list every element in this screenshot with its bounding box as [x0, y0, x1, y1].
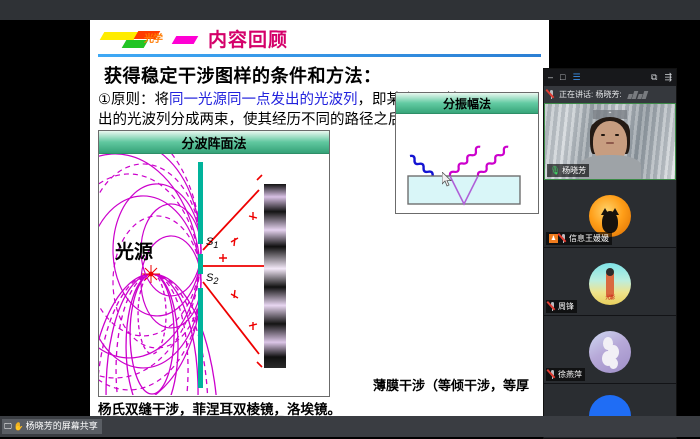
thin-film-slab	[408, 176, 520, 204]
anime-figure-avatar: 光影	[589, 263, 631, 305]
window-controls[interactable]: – □ ☰	[548, 73, 581, 82]
reflected-ray-2	[477, 145, 510, 177]
slide-header-rule	[98, 54, 541, 57]
fringe-screen	[264, 184, 286, 368]
slide-header: 光学 内容回顾	[90, 20, 549, 58]
participant-tile-avatar[interactable]: ♟ 信息王媛媛	[544, 180, 676, 248]
body-text-pre: ①原则：将	[98, 92, 169, 108]
purple-flower-avatar	[589, 331, 631, 373]
slit-label-s1: S1	[206, 236, 218, 250]
participant-tile-video[interactable]: ⌃ 🎙 杨晓芳	[544, 103, 676, 180]
mic-muted-icon	[549, 302, 556, 312]
audio-wave-icon	[628, 91, 647, 99]
participant-nametag: 🎙 杨晓芳	[547, 164, 589, 177]
participant-tile-avatar[interactable]: 徐燕萍	[544, 316, 676, 384]
taskbar-button-label: 杨晓芳的屏幕共享	[26, 419, 98, 434]
participant-name: 周锋	[558, 301, 574, 312]
figure-right-caption: 分振幅法	[396, 93, 538, 114]
hand-icon: ✋	[14, 419, 24, 434]
active-speaker-label: 正在讲话: 杨晓芳:	[559, 89, 622, 100]
video-panel-titlebar[interactable]: – □ ☰ ⧉ ⇶	[544, 69, 676, 86]
popout-icon[interactable]: ⧉	[651, 73, 657, 82]
optics-logo: 光学	[100, 28, 196, 48]
taskbar-share-button[interactable]: 🖵 ✋ 杨晓芳的屏幕共享	[2, 419, 102, 434]
host-badge-icon: ♟	[549, 234, 558, 243]
mouse-cursor	[442, 172, 453, 187]
participant-nametag: 周锋	[546, 300, 577, 313]
participant-tile-avatar[interactable]: 光影 周锋	[544, 248, 676, 316]
participant-nametag: 徐燕萍	[546, 368, 585, 381]
figure-wavefront-division: 分波阵面法	[98, 130, 330, 397]
minimize-icon[interactable]: –	[548, 73, 553, 82]
thin-film-note: 薄膜干涉（等倾干涉，等厚	[373, 375, 529, 394]
reflected-ray-1	[449, 145, 482, 177]
taskbar[interactable]: 🖵 ✋ 杨晓芳的屏幕共享	[0, 416, 700, 437]
maximize-icon[interactable]: □	[560, 73, 565, 82]
desktop-background: 光学 内容回顾 获得稳定干涉图样的条件和方法： ①原则：将同一光源同一点发出的光…	[0, 0, 700, 437]
body-text-highlight: 同一光源同一点发出的光波列	[169, 92, 358, 108]
participant-name: 信息王媛媛	[569, 233, 609, 244]
light-source-label: 光源	[115, 242, 153, 264]
slit-1-subscript: 1	[213, 240, 218, 250]
video-panel[interactable]: – □ ☰ ⧉ ⇶ 正在讲话: 杨晓芳: ⌃	[543, 68, 677, 439]
monitor-icon: 🖵	[4, 419, 12, 434]
thin-film-diagram	[396, 114, 536, 211]
slit-label-s2: S2	[206, 272, 218, 286]
slide-title: 获得稳定干涉图样的条件和方法：	[104, 62, 382, 88]
slide-header-title: 内容回顾	[208, 25, 288, 52]
orange-cat-avatar	[589, 195, 631, 237]
participant-nametag: ♟ 信息王媛媛	[546, 232, 612, 245]
participant-name: 徐燕萍	[558, 369, 582, 380]
mic-on-icon: 🎙	[550, 166, 560, 175]
mic-muted-icon	[560, 234, 567, 244]
figure-left-caption: 分波阵面法	[99, 131, 329, 154]
panel-right-controls[interactable]: ⧉ ⇶	[651, 73, 672, 82]
active-speaker-bar: 正在讲话: 杨晓芳:	[544, 86, 676, 103]
stacked-view-icon[interactable]: ☰	[572, 73, 580, 82]
figure-amplitude-division: 分振幅法	[395, 92, 539, 214]
logo-shape-magenta	[172, 36, 199, 44]
figure-left-body: 光源 S1 S2	[99, 154, 329, 396]
logo-text: 光学	[144, 30, 162, 45]
slit-2-subscript: 2	[213, 276, 218, 286]
figure-right-body	[396, 114, 538, 211]
mic-muted-icon	[548, 90, 555, 100]
layout-list-icon[interactable]: ⇶	[664, 73, 672, 82]
mic-muted-icon	[549, 370, 556, 380]
participant-name: 杨晓芳	[562, 165, 586, 176]
shared-slide: 光学 内容回顾 获得稳定干涉图样的条件和方法： ①原则：将同一光源同一点发出的光…	[90, 20, 549, 417]
desktop-top-bar	[0, 0, 700, 20]
